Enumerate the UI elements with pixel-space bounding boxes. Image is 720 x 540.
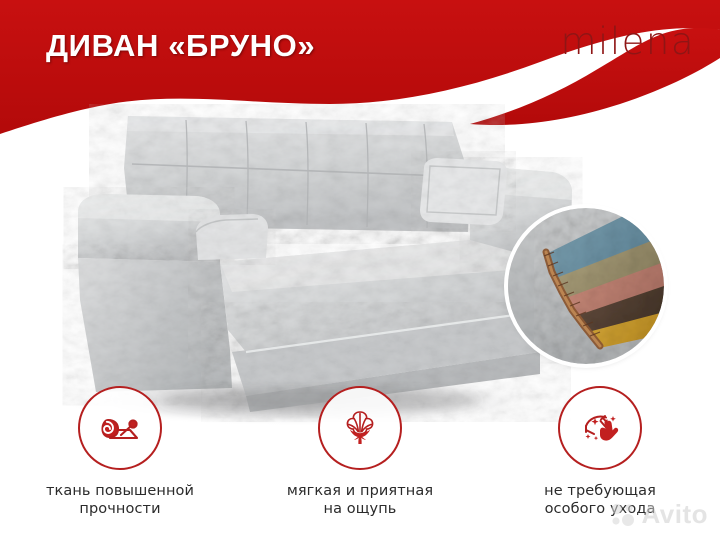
product-banner-image: ДИВАН «БРУНО» milena [0, 0, 720, 540]
page-title: ДИВАН «БРУНО» [46, 28, 315, 64]
feature-badge-3 [558, 386, 642, 470]
avito-logo-icon [610, 502, 636, 528]
cleaning-hand-icon [576, 404, 624, 452]
avito-watermark: Avito [610, 499, 708, 530]
feature-badge-2 [318, 386, 402, 470]
fabric-roll-icon [96, 404, 144, 452]
brand-logo: milena [561, 20, 696, 63]
avito-watermark-text: Avito [641, 499, 708, 530]
sofa-left-bolster-cushion [196, 214, 268, 260]
feature-badge-1 [78, 386, 162, 470]
fabric-swatch-circle [508, 208, 664, 364]
feature-item-durable-fabric: ткань повышенной прочности [13, 386, 228, 518]
fabric-swatch-samples [508, 208, 664, 364]
sofa-left-base [78, 258, 232, 392]
feature-label-1: ткань повышенной прочности [46, 482, 194, 518]
sofa-accent-pillow [420, 158, 507, 225]
feature-label-2: мягкая и приятная на ощупь [287, 482, 433, 518]
feature-item-soft-touch: мягкая и приятная на ощупь [253, 386, 468, 518]
cotton-flower-icon [336, 404, 384, 452]
